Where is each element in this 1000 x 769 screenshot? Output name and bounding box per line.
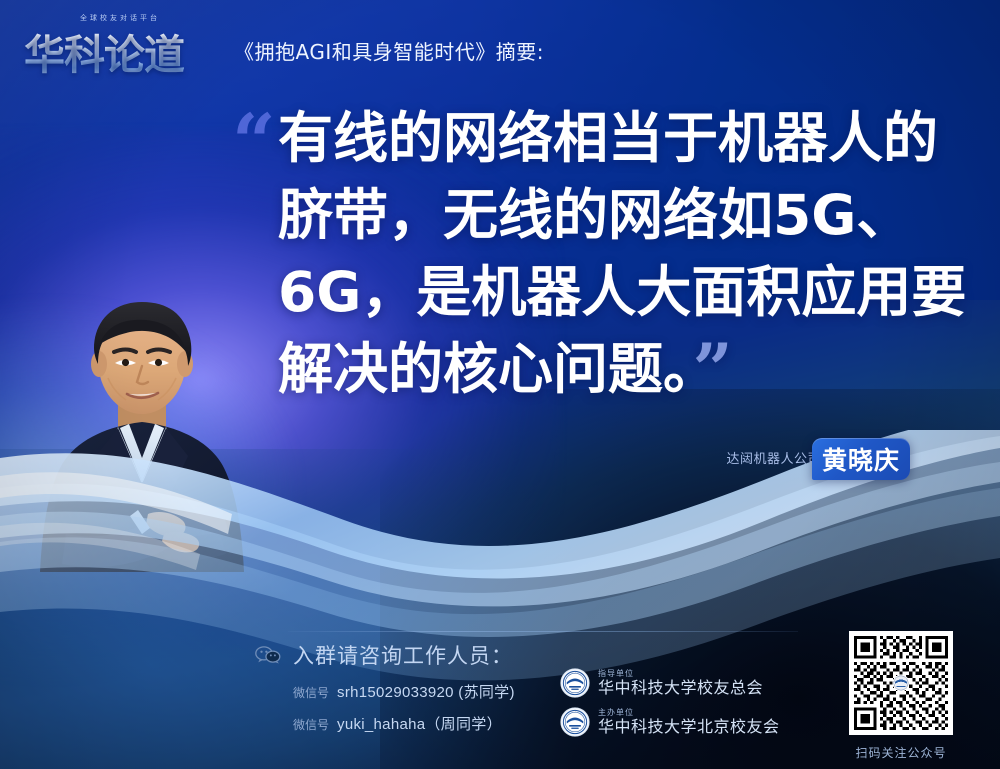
organizer-row: 指导单位 华中科技大学校友总会 [560, 668, 780, 698]
join-title: 入群请咨询工作人员： [293, 640, 513, 670]
university-seal-icon [560, 707, 590, 737]
contact-row: 微信号 yuki_hahaha（周同学） [293, 713, 585, 734]
organizer-row: 主办单位 华中科技大学北京校友会 [560, 707, 780, 737]
brand-logo: 全球校友对话平台 华科论道 [24, 12, 220, 74]
quote-line: 脐带，无线的网络如5G、 [278, 177, 950, 254]
quote-line-last: 解决的核心问题。” [278, 331, 950, 408]
organizer-text: 主办单位 华中科技大学北京校友会 [598, 709, 780, 735]
footer-contact-block: 入群请咨询工作人员： 微信号 srh15029033920 (苏同学) 微信号 … [255, 640, 585, 734]
organizer-name: 华中科技大学校友总会 [598, 680, 763, 696]
contact-value[interactable]: yuki_hahaha（周同学） [337, 713, 502, 734]
speaker-name: 黄晓庆 [822, 441, 900, 477]
contact-value[interactable]: srh15029033920 (苏同学) [337, 681, 515, 702]
quote-close-mark: ” [693, 328, 733, 411]
organizer-name: 华中科技大学北京校友会 [598, 719, 780, 735]
footer-divider [288, 631, 798, 632]
speaker-name-badge: 黄晓庆 [812, 438, 910, 480]
university-seal-icon [560, 668, 590, 698]
quote-line-text: 解决的核心问题。 [278, 337, 691, 401]
header: 全球校友对话平台 华科论道 《拥抱AGI和具身智能时代》摘要: [24, 12, 544, 74]
qr-block: 扫码关注公众号 [836, 631, 966, 761]
qr-caption: 扫码关注公众号 [836, 744, 966, 761]
contact-label: 微信号 [293, 684, 329, 701]
organizer-block: 指导单位 华中科技大学校友总会 主办单位 华中科技大学北京校友会 [560, 668, 780, 746]
poster-root: 全球校友对话平台 华科论道 《拥抱AGI和具身智能时代》摘要: “ 有线的网络相… [0, 0, 1000, 769]
organizer-kind: 指导单位 [598, 670, 763, 678]
contact-row: 微信号 srh15029033920 (苏同学) [293, 681, 585, 702]
qr-code-image[interactable] [849, 631, 953, 735]
quote-open-mark: “ [232, 104, 276, 180]
page-title: 《拥抱AGI和具身智能时代》摘要: [234, 36, 544, 74]
organizer-kind: 主办单位 [598, 709, 780, 717]
contact-label: 微信号 [293, 716, 329, 733]
quote-line: 有线的网络相当于机器人的 [278, 100, 950, 177]
quote-line: 6G，是机器人大面积应用要 [278, 254, 950, 331]
quote-text: 有线的网络相当于机器人的 脐带，无线的网络如5G、 6G，是机器人大面积应用要 … [278, 100, 950, 408]
join-row: 入群请咨询工作人员： [255, 640, 585, 670]
brand-logo-text: 华科论道 [24, 21, 184, 81]
organizer-text: 指导单位 华中科技大学校友总会 [598, 670, 763, 696]
wechat-icon [255, 646, 281, 664]
